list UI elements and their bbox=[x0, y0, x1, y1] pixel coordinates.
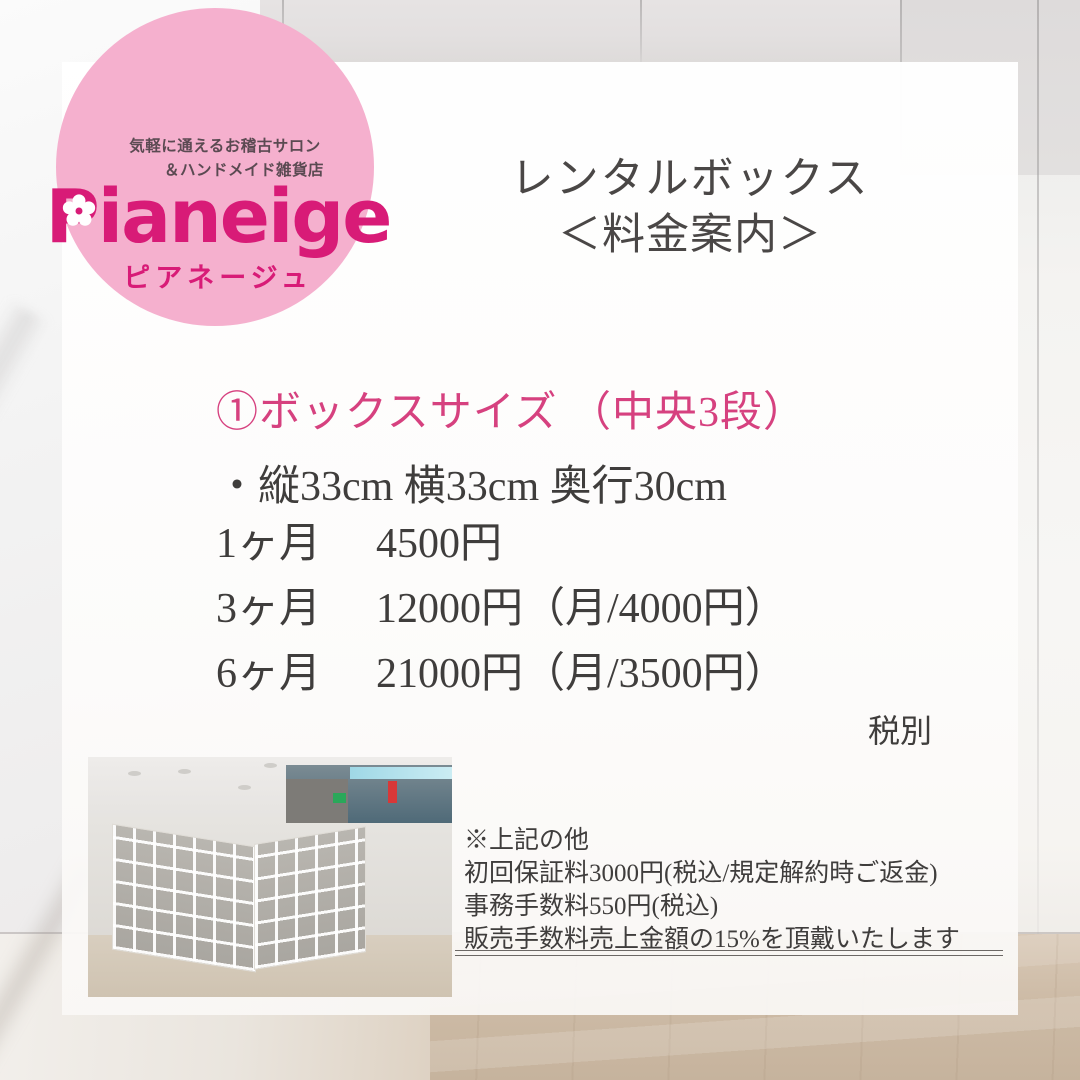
price-row: 6ヶ月 21000円 （月/3500円） bbox=[216, 642, 787, 707]
photo-downlight bbox=[264, 763, 277, 768]
photo-exit-sign bbox=[333, 793, 346, 803]
divider-line bbox=[455, 955, 1003, 956]
photo-light-strip bbox=[350, 767, 452, 779]
price-term: 6ヶ月 bbox=[216, 642, 376, 707]
rental-box-shelves-photo bbox=[88, 757, 452, 997]
brand-tagline-line1: 気軽に通えるお稽古サロン bbox=[129, 138, 321, 155]
price-amount: 4500円 bbox=[376, 512, 502, 577]
page-title: レンタルボックス ＜料金案内＞ bbox=[430, 152, 950, 264]
section-heading-box-size: ①ボックスサイズ （中央3段） bbox=[216, 378, 806, 439]
price-term: 3ヶ月 bbox=[216, 577, 376, 642]
tax-note: 税別 bbox=[868, 706, 932, 752]
background-wall-seam bbox=[1037, 0, 1039, 938]
price-list: 1ヶ月 4500円 3ヶ月 12000円 （月/4000円） 6ヶ月 21000… bbox=[216, 512, 787, 707]
divider-line bbox=[455, 950, 1003, 951]
price-amount: 12000円 bbox=[376, 577, 523, 642]
box-dimensions-line: ・縦33cm 横33cm 奥行30cm bbox=[216, 452, 727, 513]
brand-wordmark-wrap: Pianeige bbox=[40, 180, 391, 254]
fineprint-line: 事務手数料550円(税込) bbox=[464, 890, 960, 923]
price-term: 1ヶ月 bbox=[216, 512, 376, 577]
fineprint-line: ※上記の他 bbox=[464, 824, 960, 857]
flower-icon bbox=[62, 194, 96, 228]
brand-logo-badge: 気軽に通えるお稽古サロン ＆ハンドメイド雑貨店 Pianeige ピアネージュ bbox=[56, 8, 374, 326]
price-row: 3ヶ月 12000円 （月/4000円） bbox=[216, 577, 787, 642]
fineprint-line: 初回保証料3000円(税込/規定解約時ご返金) bbox=[464, 857, 960, 890]
brand-kana: ピアネージュ bbox=[123, 256, 313, 295]
photo-shelf-unit-right bbox=[254, 826, 366, 970]
flyer-root: 気軽に通えるお稽古サロン ＆ハンドメイド雑貨店 Pianeige ピアネージュ … bbox=[0, 0, 1080, 1080]
photo-red-sign bbox=[388, 781, 397, 803]
photo-downlight bbox=[238, 785, 251, 790]
photo-downlight bbox=[178, 769, 191, 774]
page-title-line2: ＜料金案内＞ bbox=[430, 208, 950, 264]
photo-shelf-unit-left bbox=[112, 824, 256, 973]
page-title-line1: レンタルボックス bbox=[430, 152, 950, 208]
price-per-month: （月/4000円） bbox=[523, 577, 787, 642]
background-wall-seam bbox=[640, 0, 642, 66]
price-amount: 21000円 bbox=[376, 642, 523, 707]
price-per-month: （月/3500円） bbox=[523, 642, 787, 707]
price-row: 1ヶ月 4500円 bbox=[216, 512, 787, 577]
divider-double-rule bbox=[455, 950, 1003, 956]
photo-downlight bbox=[128, 771, 141, 776]
fineprint-notes: ※上記の他 初回保証料3000円(税込/規定解約時ご返金) 事務手数料550円(… bbox=[464, 824, 960, 956]
